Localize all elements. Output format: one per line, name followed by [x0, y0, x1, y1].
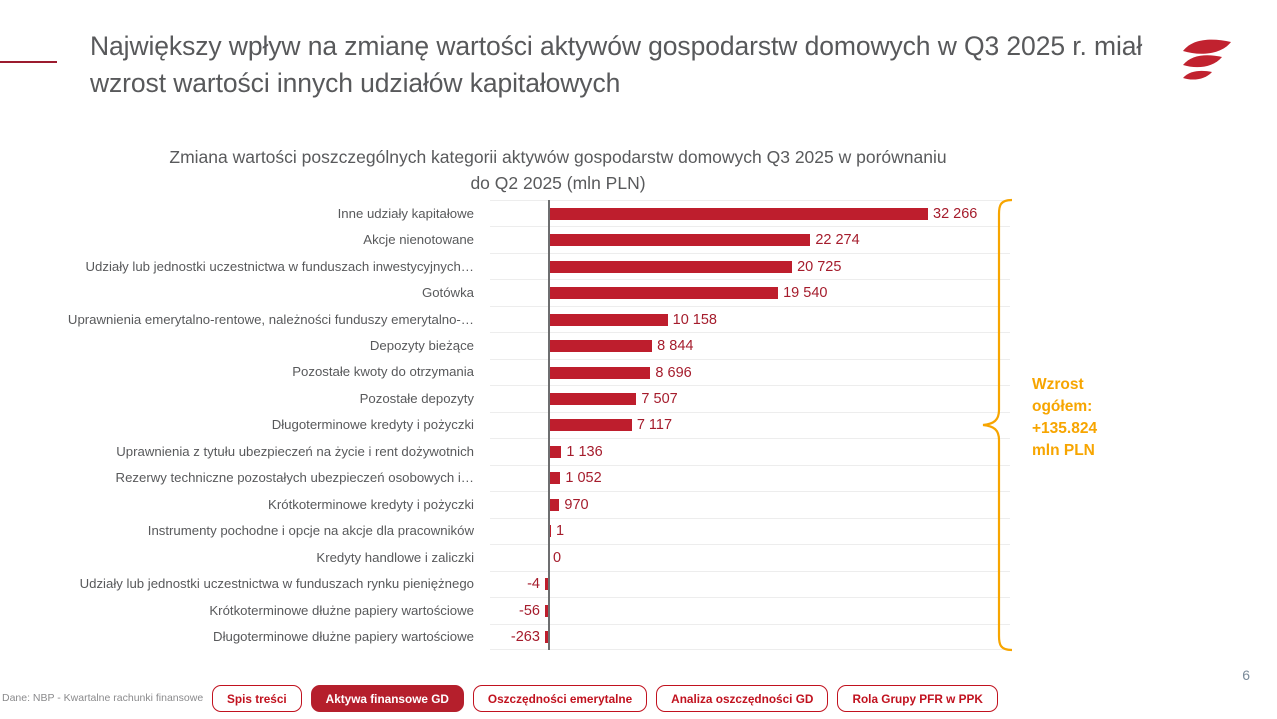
bar-row: 19 540	[490, 279, 1010, 305]
bar-row: 1 136	[490, 438, 1010, 464]
category-axis: Inne udziały kapitałoweAkcje nienotowane…	[0, 200, 482, 650]
bar-row: -263	[490, 624, 1010, 650]
category-label-row: Pozostałe kwoty do otrzymania	[0, 359, 482, 385]
bar-value-label: 7 507	[641, 392, 677, 407]
bar-value-label: 1	[556, 524, 564, 539]
page-number: 6	[1242, 667, 1250, 683]
bar	[548, 314, 668, 326]
bar-row: 0	[490, 544, 1010, 570]
nav-button-4[interactable]: Analiza oszczędności GD	[656, 685, 828, 712]
bar-row: -56	[490, 597, 1010, 623]
category-label-row: Udziały lub jednostki uczestnictwa w fun…	[0, 253, 482, 279]
category-label-row: Krótkoterminowe dłużne papiery wartościo…	[0, 597, 482, 623]
category-label: Kredyty handlowe i zaliczki	[316, 551, 482, 564]
category-label: Rezerwy techniczne pozostałych ubezpiecz…	[116, 471, 482, 484]
bar-row: 8 696	[490, 359, 1010, 385]
total-growth-callout: Wzrost ogółem: +135.824 mln PLN	[1032, 374, 1162, 462]
bar	[548, 340, 652, 352]
source-note: Dane: NBP - Kwartalne rachunki finansowe	[2, 692, 203, 704]
zero-axis-line	[548, 200, 550, 650]
pfr-logo-icon	[1179, 35, 1237, 87]
nav-button-2[interactable]: Aktywa finansowe GD	[311, 685, 464, 712]
bar	[548, 234, 810, 246]
category-label-row: Długoterminowe dłużne papiery wartościow…	[0, 624, 482, 650]
category-label-row: Gotówka	[0, 279, 482, 305]
title-accent-rule	[0, 61, 57, 63]
bar-value-label: 0	[553, 551, 561, 566]
category-label-row: Pozostałe depozyty	[0, 385, 482, 411]
category-label: Udziały lub jednostki uczestnictwa w fun…	[86, 260, 482, 273]
bar-row: 970	[490, 491, 1010, 517]
bar	[548, 393, 636, 405]
category-label: Gotówka	[422, 286, 482, 299]
bar-value-label: 32 266	[933, 206, 977, 221]
bar-value-label: 970	[564, 498, 588, 513]
page-title: Największy wpływ na zmianę wartości akty…	[90, 28, 1150, 102]
bar-value-label: 20 725	[797, 259, 841, 274]
category-label-row: Długoterminowe kredyty i pożyczki	[0, 412, 482, 438]
bar-row: 22 274	[490, 226, 1010, 252]
bar-row: 1 052	[490, 465, 1010, 491]
nav-button-3[interactable]: Oszczędności emerytalne	[473, 685, 647, 712]
bar	[548, 446, 561, 458]
bar-value-label: 22 274	[815, 233, 859, 248]
bar	[548, 367, 650, 379]
bar-value-label: -4	[527, 577, 540, 592]
category-label-row: Uprawnienia z tytułu ubezpieczeń na życi…	[0, 438, 482, 464]
category-label: Akcje nienotowane	[363, 233, 482, 246]
bar	[548, 208, 928, 220]
category-label: Długoterminowe kredyty i pożyczki	[272, 418, 482, 431]
category-label: Uprawnienia emerytalno-rentowe, należnoś…	[68, 313, 482, 326]
bar-value-label: 10 158	[673, 312, 717, 327]
bar-row: 7 507	[490, 385, 1010, 411]
category-label: Instrumenty pochodne i opcje na akcje dl…	[148, 524, 482, 537]
total-brace-icon	[978, 198, 1018, 652]
category-label-row: Instrumenty pochodne i opcje na akcje dl…	[0, 518, 482, 544]
bar-row: 20 725	[490, 253, 1010, 279]
plot-area: 32 26622 27420 72519 54010 1588 8448 696…	[490, 200, 1010, 650]
bar-value-label: 8 844	[657, 339, 693, 354]
nav-button-5[interactable]: Rola Grupy PFR w PPK	[837, 685, 997, 712]
callout-line-3: +135.824	[1032, 418, 1162, 440]
bar-value-label: 8 696	[655, 365, 691, 380]
bar-value-label: 7 117	[637, 418, 672, 433]
bar-value-label: -56	[519, 604, 540, 619]
nav-button-1[interactable]: Spis treści	[212, 685, 302, 712]
category-label: Udziały lub jednostki uczestnictwa w fun…	[80, 577, 482, 590]
bar	[548, 261, 792, 273]
bar-row: 32 266	[490, 200, 1010, 226]
bar-value-label: 19 540	[783, 286, 827, 301]
category-label: Inne udziały kapitałowe	[338, 207, 482, 220]
bar	[548, 287, 778, 299]
category-label: Uprawnienia z tytułu ubezpieczeń na życi…	[116, 445, 482, 458]
bar-value-label: 1 052	[565, 471, 601, 486]
category-label-row: Akcje nienotowane	[0, 226, 482, 252]
category-label: Pozostałe depozyty	[360, 392, 482, 405]
bar-value-label: -263	[511, 629, 540, 644]
category-label-row: Depozyty bieżące	[0, 332, 482, 358]
category-label: Długoterminowe dłużne papiery wartościow…	[213, 630, 482, 643]
category-label-row: Udziały lub jednostki uczestnictwa w fun…	[0, 571, 482, 597]
section-nav: Spis treściAktywa finansowe GDOszczędnoś…	[212, 685, 998, 712]
callout-line-1: Wzrost	[1032, 374, 1162, 396]
category-label: Krótkoterminowe dłużne papiery wartościo…	[209, 604, 482, 617]
bar	[548, 419, 632, 431]
category-label-row: Rezerwy techniczne pozostałych ubezpiecz…	[0, 465, 482, 491]
category-label: Depozyty bieżące	[370, 339, 482, 352]
category-label: Pozostałe kwoty do otrzymania	[292, 365, 482, 378]
bar-row: -4	[490, 571, 1010, 597]
category-label-row: Uprawnienia emerytalno-rentowe, należnoś…	[0, 306, 482, 332]
category-label-row: Kredyty handlowe i zaliczki	[0, 544, 482, 570]
category-label-row: Krótkoterminowe kredyty i pożyczki	[0, 491, 482, 517]
bar-row: 7 117	[490, 412, 1010, 438]
bar-row: 10 158	[490, 306, 1010, 332]
bar-row: 1	[490, 518, 1010, 544]
chart-title: Zmiana wartości poszczególnych kategorii…	[158, 144, 958, 196]
bar-value-label: 1 136	[566, 445, 602, 460]
category-label-row: Inne udziały kapitałowe	[0, 200, 482, 226]
callout-line-4: mln PLN	[1032, 440, 1162, 462]
callout-line-2: ogółem:	[1032, 396, 1162, 418]
bar-chart: Inne udziały kapitałoweAkcje nienotowane…	[0, 200, 1010, 650]
category-label: Krótkoterminowe kredyty i pożyczki	[268, 498, 482, 511]
bar-row: 8 844	[490, 332, 1010, 358]
